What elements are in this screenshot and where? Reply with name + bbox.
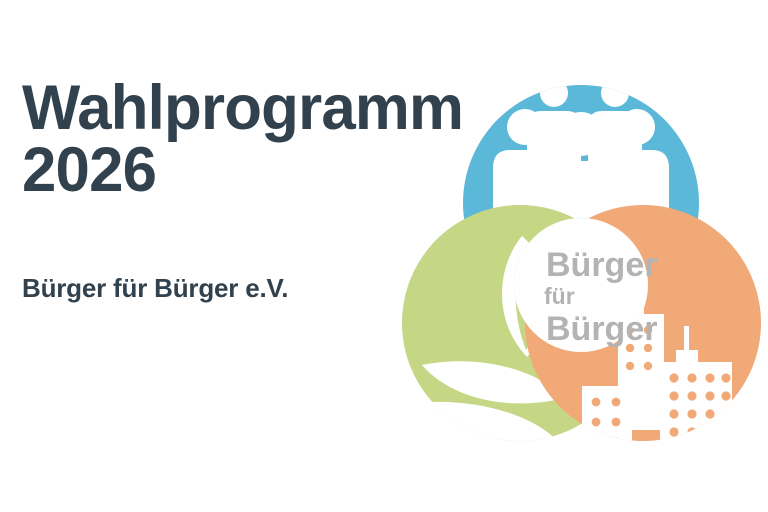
poster-canvas: Wahlprogramm 2026 Bürger für Bürger e.V.	[0, 0, 768, 512]
logo-center-line-3: Bürger	[546, 310, 657, 348]
page-title: Wahlprogramm 2026	[22, 78, 443, 201]
organization-subtitle: Bürger für Bürger e.V.	[22, 273, 288, 304]
logo-center-line-1: Bürger	[546, 246, 657, 284]
headline-block: Wahlprogramm 2026 Bürger für Bürger e.V.	[22, 78, 452, 201]
logo-center-line-2: für	[544, 283, 575, 309]
buerger-fuer-buerger-logo: Bürger für Bürger	[396, 68, 768, 468]
